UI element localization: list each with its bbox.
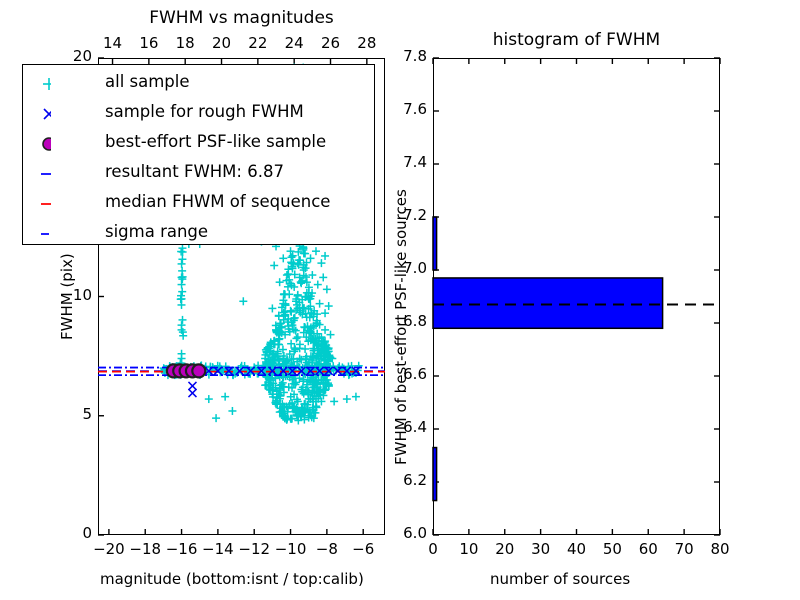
left-xtick-top: 14 [96,34,130,52]
legend-label: sigma range [105,222,208,241]
hist-ytick: 6.8 [385,312,427,330]
left-xtick-bottom: −18 [128,540,162,558]
left-xtick-top: 18 [168,34,202,52]
hist-xtick: 70 [667,540,701,558]
left-xtick-bottom: −12 [237,540,271,558]
hist-ytick: 6.2 [385,471,427,489]
left-xtick-bottom: −14 [201,540,235,558]
left-xtick-top: 24 [277,34,311,52]
legend-entry: sigma range [23,219,374,249]
left-xtick-top: 16 [132,34,166,52]
legend-marker-circle-icon [29,129,51,159]
legend-label: best-effort PSF-like sample [105,132,326,151]
legend: all samplesample for rough FWHMbest-effo… [22,64,375,245]
hist-ytick: 7.0 [385,259,427,277]
hist-ytick: 7.8 [385,47,427,65]
hist-xtick: 50 [595,540,629,558]
legend-marker-dashed-icon [29,159,51,189]
figure-canvas: FWHM vs magnitudes FWHM (pix) magnitude … [0,0,800,600]
legend-label: all sample [105,72,190,91]
left-xtick-top: 22 [241,34,275,52]
left-xtick-top: 28 [350,34,384,52]
legend-marker-dashdot-icon [29,219,51,249]
legend-entry: median FHWM of sequence [23,189,374,219]
right-panel-title: histogram of FWHM [433,30,720,50]
hist-ytick: 6.6 [385,365,427,383]
hist-xtick: 10 [452,540,486,558]
legend-entry: resultant FWHM: 6.87 [23,159,374,189]
hist-xtick: 40 [560,540,594,558]
left-xtick-bottom: −6 [346,540,380,558]
left-xtick-top: 20 [205,34,239,52]
hist-xtick: 30 [524,540,558,558]
left-xtick-bottom: −10 [274,540,308,558]
right-panel-xlabel: number of sources [490,570,630,588]
right-panel-axes-frame [433,58,720,535]
legend-label: median FHWM of sequence [105,192,330,211]
left-ytick: 0 [58,524,92,542]
legend-label: sample for rough FWHM [105,102,304,121]
hist-ytick: 6.0 [385,524,427,542]
legend-marker-plus-icon [29,69,51,99]
hist-ytick: 7.2 [385,206,427,224]
left-panel-title: FWHM vs magnitudes [98,8,385,28]
legend-marker-dashed-icon [29,189,51,219]
left-panel-xlabel: magnitude (bottom:isnt / top:calib) [100,570,364,588]
left-ytick: 20 [58,47,92,65]
hist-xtick: 80 [703,540,737,558]
legend-entry: all sample [23,69,374,99]
legend-label: resultant FWHM: 6.87 [105,162,284,181]
legend-entry: sample for rough FWHM [23,99,374,129]
left-xtick-bottom: −16 [165,540,199,558]
hist-ytick: 7.6 [385,100,427,118]
hist-xtick: 20 [488,540,522,558]
left-ytick: 10 [58,286,92,304]
left-xtick-top: 26 [314,34,348,52]
hist-ytick: 7.4 [385,153,427,171]
hist-xtick: 0 [416,540,450,558]
hist-ytick: 6.4 [385,418,427,436]
hist-xtick: 60 [631,540,665,558]
legend-entry: best-effort PSF-like sample [23,129,374,159]
legend-marker-cross-icon [29,99,51,129]
left-xtick-bottom: −20 [92,540,126,558]
left-xtick-bottom: −8 [310,540,344,558]
left-ytick: 5 [58,405,92,423]
